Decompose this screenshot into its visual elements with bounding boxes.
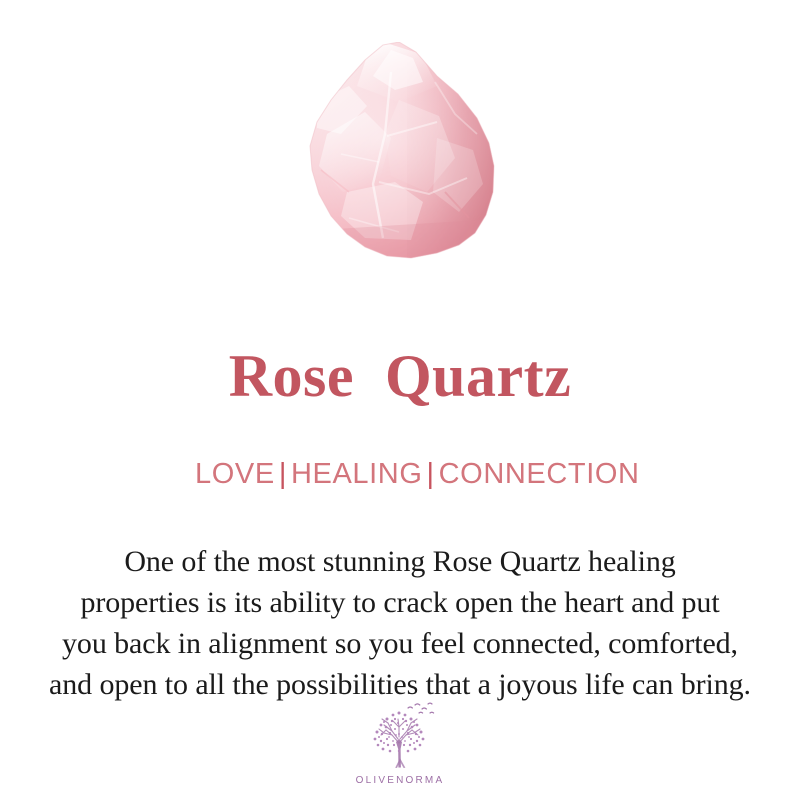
description-line-4: and open to all the possibilities that a…: [20, 664, 780, 705]
product-image-block: [0, 0, 800, 300]
keyword-healing: HEALING: [291, 458, 423, 490]
keyword-love: LOVE: [195, 458, 275, 490]
page-title: Rose Quartz: [229, 300, 572, 406]
birds: [408, 703, 434, 713]
keyword-separator-2: |: [422, 458, 438, 490]
rose-quartz-info-card: Rose Quartz LOVE|HEALING|CONNECTION One …: [0, 0, 800, 800]
brand-wordmark: OLIVENORMA: [356, 775, 445, 786]
keyword-subtitle: LOVE|HEALING|CONNECTION: [160, 406, 639, 518]
description-line-1: One of the most stunning Rose Quartz hea…: [20, 541, 780, 582]
keyword-connection: CONNECTION: [439, 458, 640, 490]
keyword-separator-1: |: [275, 458, 291, 490]
description-line-3: you back in alignment so you feel connec…: [20, 623, 780, 664]
description-paragraph: One of the most stunning Rose Quartz hea…: [20, 518, 780, 705]
crystal-body: [287, 42, 513, 274]
tree-of-life-icon: [362, 701, 438, 773]
brand-logo: OLIVENORMA: [0, 701, 800, 786]
description-line-2: properties is its ability to crack open …: [20, 582, 780, 623]
rose-quartz-crystal-icon: [287, 42, 513, 274]
